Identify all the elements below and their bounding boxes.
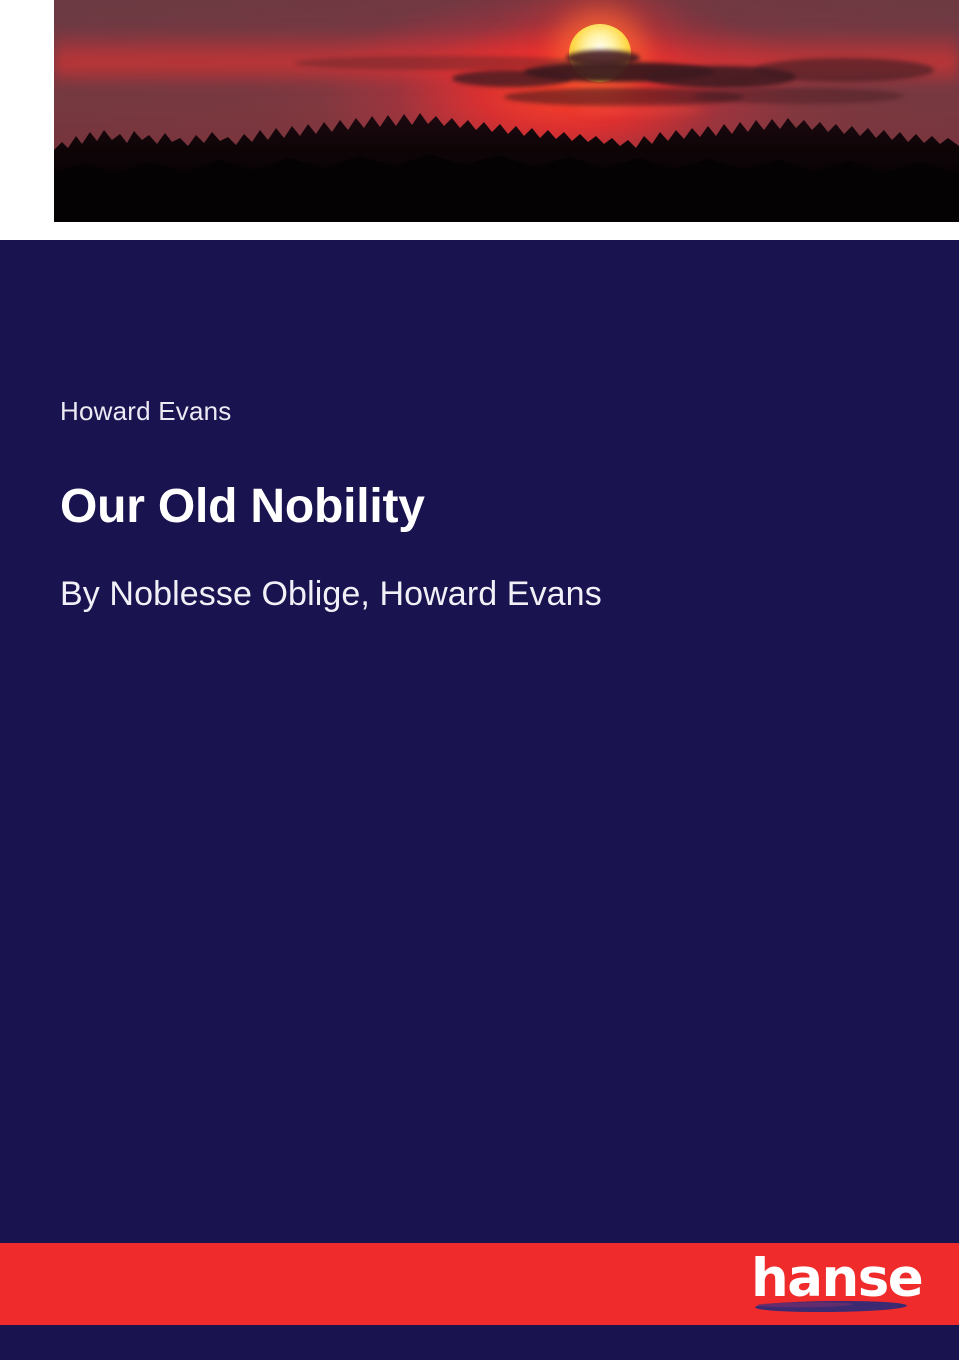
forest-silhouette <box>54 110 959 222</box>
publisher-logo-swoosh-icon <box>755 1300 907 1313</box>
cover-text-block: Howard Evans Our Old Nobility By Nobless… <box>60 396 900 615</box>
publisher-logo-text: hanse <box>751 1252 911 1305</box>
cover-bottom-navy-band <box>0 1325 959 1360</box>
cloud-band <box>646 66 796 88</box>
cover-subtitle: By Noblesse Oblige, Howard Evans <box>60 574 900 615</box>
cover-title: Our Old Nobility <box>60 479 900 534</box>
cover-photo-sunset-forest <box>54 0 959 222</box>
cover-author: Howard Evans <box>60 396 900 427</box>
cloud-band <box>694 88 904 104</box>
book-cover: Howard Evans Our Old Nobility By Nobless… <box>0 0 959 1360</box>
publisher-logo-hanse: hanse <box>751 1252 911 1318</box>
